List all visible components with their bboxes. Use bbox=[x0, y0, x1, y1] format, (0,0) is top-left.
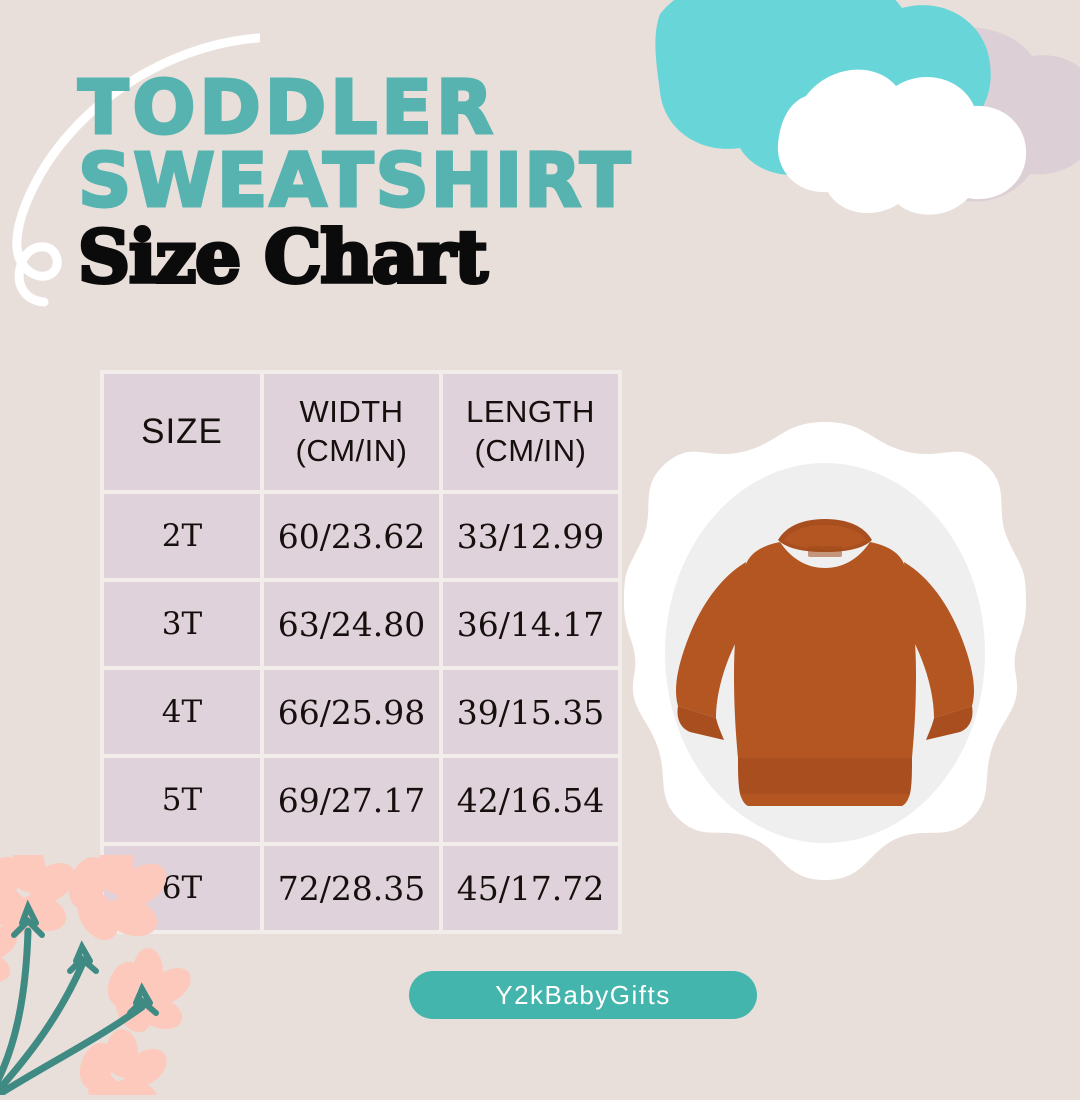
table-row: 6T 72/28.35 45/17.72 bbox=[104, 846, 618, 930]
table-header-row: SIZE WIDTH (CM/IN) LENGTH (CM/IN) bbox=[104, 374, 618, 490]
cell-length: 45/17.72 bbox=[443, 846, 618, 930]
cell-size: 3T bbox=[104, 582, 260, 666]
cell-length: 33/12.99 bbox=[443, 494, 618, 578]
cell-size: 2T bbox=[104, 494, 260, 578]
table-header-width: WIDTH (CM/IN) bbox=[264, 374, 439, 490]
cell-length: 42/16.54 bbox=[443, 758, 618, 842]
product-photo bbox=[620, 418, 1030, 888]
cell-width: 69/27.17 bbox=[264, 758, 439, 842]
table-row: 2T 60/23.62 33/12.99 bbox=[104, 494, 618, 578]
title-line-sweatshirt: SWEATSHIRT bbox=[78, 145, 778, 218]
table-row: 4T 66/25.98 39/15.35 bbox=[104, 670, 618, 754]
table-header-size-label: SIZE bbox=[104, 412, 260, 452]
table-header-size: SIZE bbox=[104, 374, 260, 490]
garment-neck-tag bbox=[808, 546, 842, 557]
table-row: 3T 63/24.80 36/14.17 bbox=[104, 582, 618, 666]
cloud-white bbox=[778, 70, 1026, 215]
shop-name-label: Y2kBabyGifts bbox=[495, 980, 671, 1011]
table-header-width-unit: (CM/IN) bbox=[264, 432, 439, 471]
cloud-mauve bbox=[806, 27, 1080, 202]
table-header-length-unit: (CM/IN) bbox=[443, 432, 618, 471]
table-header-length: LENGTH (CM/IN) bbox=[443, 374, 618, 490]
table-row: 5T 69/27.17 42/16.54 bbox=[104, 758, 618, 842]
cell-length: 39/15.35 bbox=[443, 670, 618, 754]
shop-name-badge[interactable]: Y2kBabyGifts bbox=[409, 971, 757, 1019]
cell-size: 6T bbox=[104, 846, 260, 930]
title-line-toddler: TODDLER bbox=[78, 72, 778, 145]
cell-size: 5T bbox=[104, 758, 260, 842]
cell-width: 63/24.80 bbox=[264, 582, 439, 666]
cell-width: 66/25.98 bbox=[264, 670, 439, 754]
title-line-size-chart: Size Chart bbox=[78, 221, 778, 293]
table-header-width-label: WIDTH bbox=[264, 393, 439, 432]
flower-stems bbox=[0, 931, 142, 1095]
cell-width: 60/23.62 bbox=[264, 494, 439, 578]
page-title: TODDLER SWEATSHIRT Size Chart bbox=[78, 72, 778, 293]
cell-size: 4T bbox=[104, 670, 260, 754]
cell-width: 72/28.35 bbox=[264, 846, 439, 930]
size-chart-table: SIZE WIDTH (CM/IN) LENGTH (CM/IN) 2T 60/… bbox=[100, 370, 622, 934]
cell-length: 36/14.17 bbox=[443, 582, 618, 666]
table-header-length-label: LENGTH bbox=[443, 393, 618, 432]
